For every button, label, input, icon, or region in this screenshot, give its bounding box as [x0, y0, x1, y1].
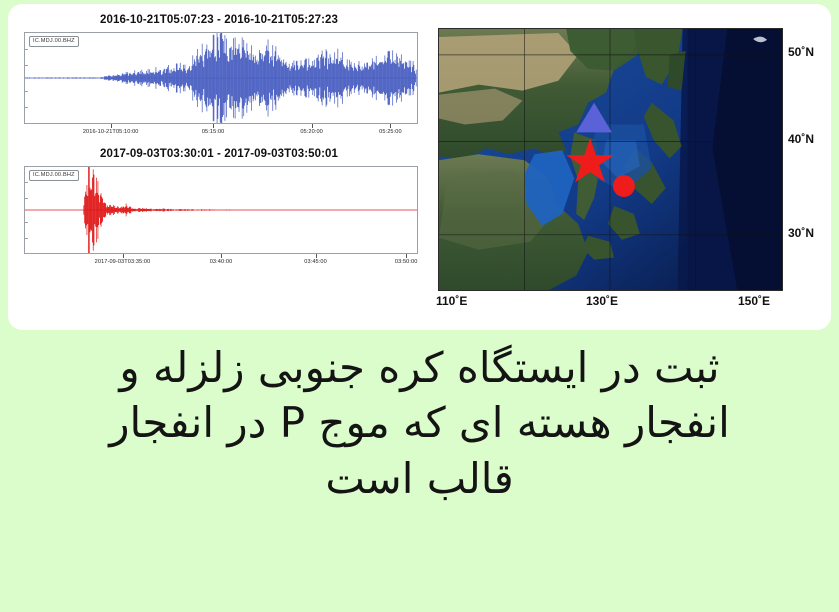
- map-image: [439, 29, 782, 290]
- map-lat-label-50n: 50˚N: [788, 45, 814, 59]
- explosion-title: 2017-09-03T03:30:01 - 2017-09-03T03:50:0…: [4, 148, 434, 160]
- map-lat-label-30n: 30˚N: [788, 226, 814, 240]
- earthquake-circle-marker: [613, 175, 635, 197]
- explosion-xaxis: 2017-09-03T03:35:00 03:40:00 03:45:00 03…: [24, 254, 418, 272]
- map-lon-label-150e: 150˚E: [738, 294, 770, 308]
- map-lat-label-40n: 40˚N: [788, 132, 814, 146]
- explosion-panel: 2017-09-03T03:30:01 - 2017-09-03T03:50:0…: [4, 148, 434, 272]
- earthquake-plot-area: IC.MDJ.00.BHZ: [24, 32, 418, 124]
- map-column: 50˚N 40˚N 30˚N 110˚E 130˚E 150˚E: [438, 28, 834, 318]
- map-lon-label-130e: 130˚E: [586, 294, 618, 308]
- explosion-plot-area: IC.MDJ.00.BHZ: [24, 166, 418, 254]
- earthquake-xaxis: 2016-10-21T05:10:00 05:15:00 05:20:00 05…: [24, 124, 418, 142]
- earthquake-xtick-3: 05:25:00: [379, 129, 402, 135]
- seismogram-column: 2016-10-21T05:07:23 - 2016-10-21T05:27:2…: [4, 14, 434, 314]
- map-frame: [438, 28, 783, 291]
- earthquake-xtick-2: 05:20:00: [300, 129, 323, 135]
- earthquake-xtick-1: 05:15:00: [202, 129, 225, 135]
- screenshot-root: 2016-10-21T05:07:23 - 2016-10-21T05:27:2…: [0, 0, 839, 612]
- earthquake-legend: IC.MDJ.00.BHZ: [29, 36, 79, 47]
- caption-line-2: انفجار هسته ای که موج P در انفجار: [0, 395, 839, 450]
- explosion-xtick-1: 03:40:00: [210, 259, 233, 265]
- explosion-xtick-3: 03:50:00: [395, 259, 418, 265]
- earthquake-title: 2016-10-21T05:07:23 - 2016-10-21T05:27:2…: [4, 14, 434, 26]
- caption-text: ثبت در ایستگاه کره جنوبی زلزله و انفجار …: [0, 340, 839, 506]
- earthquake-xtick-0: 2016-10-21T05:10:00: [83, 129, 139, 135]
- explosion-xtick-0: 2017-09-03T03:35:00: [95, 259, 151, 265]
- earthquake-panel: 2016-10-21T05:07:23 - 2016-10-21T05:27:2…: [4, 14, 434, 142]
- explosion-legend: IC.MDJ.00.BHZ: [29, 170, 79, 181]
- caption-line-1: ثبت در ایستگاه کره جنوبی زلزله و: [0, 340, 839, 395]
- earthquake-waveform: [25, 33, 417, 123]
- map-lon-label-110e: 110˚E: [436, 294, 467, 308]
- explosion-xtick-2: 03:45:00: [304, 259, 327, 265]
- caption-line-3: قالب است: [0, 451, 839, 506]
- explosion-waveform: [25, 167, 417, 253]
